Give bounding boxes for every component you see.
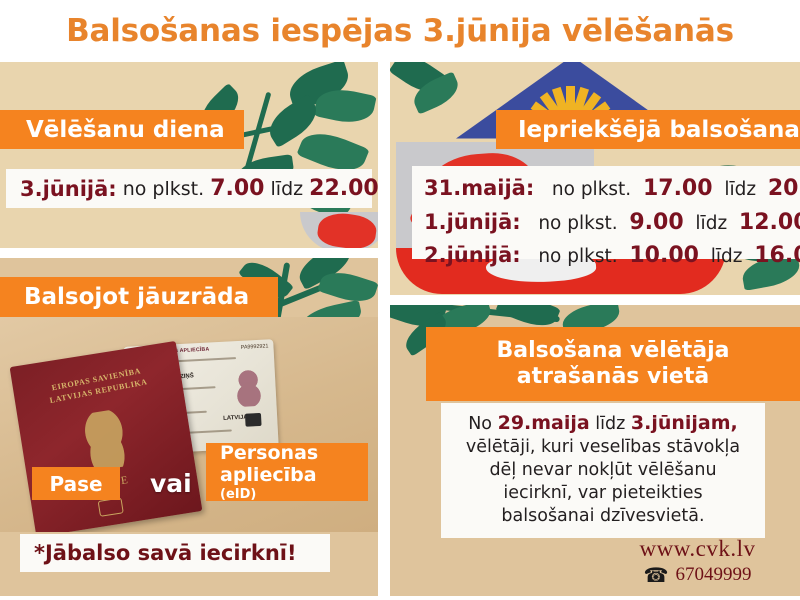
passport-biometric-icon [98,497,124,517]
early-voting-until-label: līdz [695,213,727,234]
poster-title-bar: Balsošanas iespējas 3.jūnija vēlēšanās [0,0,800,62]
section-header-early-voting: Iepriekšējā balsošana [496,110,800,149]
early-voting-date: 1.jūnijā: [424,210,521,234]
at-location-line-3: dēļ nevar nokļūt vēlēšanu [451,459,755,482]
section-header-at-location: Balsošana vēlētāja atrašanās vietā [426,327,800,401]
early-voting-row: 31.maijā: no plkst. 17.00 līdz 20.00, [424,172,800,206]
background-panel-top-left [0,62,378,248]
phone-icon: ☎ [644,565,669,585]
early-voting-date: 31.maijā: [424,176,534,200]
passport-top-text: EIROPAS SAVIENĪBA LATVIJAS REPUBLIKA [32,362,163,412]
at-location-pre: No [468,414,492,434]
phone-row: ☎ 67049999 [600,564,795,586]
phone-number: 67049999 [675,564,751,586]
section-header-at-location-label: Balsošana vēlētāja atrašanās vietā [440,338,786,389]
eid-emblem-icon [231,368,267,408]
passport-image: EIROPAS SAVIENĪBA LATVIJAS REPUBLIKA PAS… [10,341,203,532]
website-link[interactable]: www.cvk.lv [600,536,795,562]
vertical-divider [378,62,390,600]
early-voting-from-label: no plkst. [552,179,631,200]
early-voting-from-time: 10.00 [629,243,699,268]
section-header-must-present-label: Balsojot jāuzrāda [24,284,249,310]
early-voting-date: 2.jūnijā: [424,243,521,267]
footer-contact: www.cvk.lv ☎ 67049999 [600,536,795,592]
label-passport: Pase [32,467,120,500]
at-location-mid: līdz [595,414,625,434]
at-location-date-to: 3.jūnijam, [631,412,738,434]
section-header-must-present: Balsojot jāuzrāda [0,277,278,317]
early-voting-row: 2.jūnijā: no plkst. 10.00 līdz 16.00. [424,239,800,273]
early-voting-from-label: no plkst. [538,246,617,267]
passport-crest-icon [70,407,140,474]
early-voting-until-time: 20.00 [768,176,800,201]
eid-chip-icon [245,413,262,427]
label-eid: Personas apliecība (eID) [206,443,368,501]
label-passport-text: Pase [49,472,102,496]
left-column-divider [0,248,378,258]
at-location-line-1: No 29.maija līdz 3.jūnijam, [451,411,755,436]
precinct-note-text: *Jābalso savā iecirknī! [34,541,297,565]
card-precinct-note: *Jābalso savā iecirknī! [20,534,330,572]
at-location-line-4: iecirknī, var pieteikties [451,482,755,505]
voting-day-date: 3.jūnijā: [20,177,117,201]
section-header-voting-day-label: Vēlēšanu diena [26,117,225,143]
label-or: vai [150,467,192,500]
section-header-voting-day: Vēlēšanu diena [0,110,244,149]
early-voting-until-label: līdz [711,246,743,267]
early-voting-row: 1.jūnijā: no plkst. 9.00 līdz 12.00, [424,206,800,240]
early-voting-from-time: 17.00 [643,176,713,201]
early-voting-until-label: līdz [724,179,756,200]
poster-title: Balsošanas iespējas 3.jūnija vēlēšanās [66,13,734,49]
section-header-early-voting-label: Iepriekšējā balsošana [518,117,800,143]
at-location-line-2: vēlētāji, kuri veselības stāvokļa [451,436,755,459]
voting-day-from-label: no plkst. [123,178,204,200]
label-or-text: vai [150,469,192,498]
label-eid-sub: (eID) [220,487,256,502]
right-column-divider [390,295,800,305]
voting-day-from-time: 7.00 [210,176,264,201]
card-early-voting: 31.maijā: no plkst. 17.00 līdz 20.00, 1.… [412,166,800,259]
at-location-line-5: balsošanai dzīvesvietā. [451,505,755,528]
at-location-date-from: 29.maija [498,412,590,434]
early-voting-from-time: 9.00 [629,210,683,235]
early-voting-until-time: 12.00 [739,210,800,235]
card-voting-day: 3.jūnijā: no plkst. 7.00 līdz 22.00 [6,169,372,208]
bottom-edge [0,596,800,600]
label-eid-text: Personas apliecība [220,442,368,487]
early-voting-from-label: no plkst. [538,213,617,234]
voting-day-until-label: līdz [271,178,304,200]
early-voting-until-time: 16.00 [754,243,800,268]
poster-root: LIKA - PERSONAS APLIECĪBA PA9992921 PARA… [0,0,800,600]
voting-day-until-time: 22.00 [309,176,379,201]
card-at-location: No 29.maija līdz 3.jūnijam, vēlētāji, ku… [441,403,765,538]
